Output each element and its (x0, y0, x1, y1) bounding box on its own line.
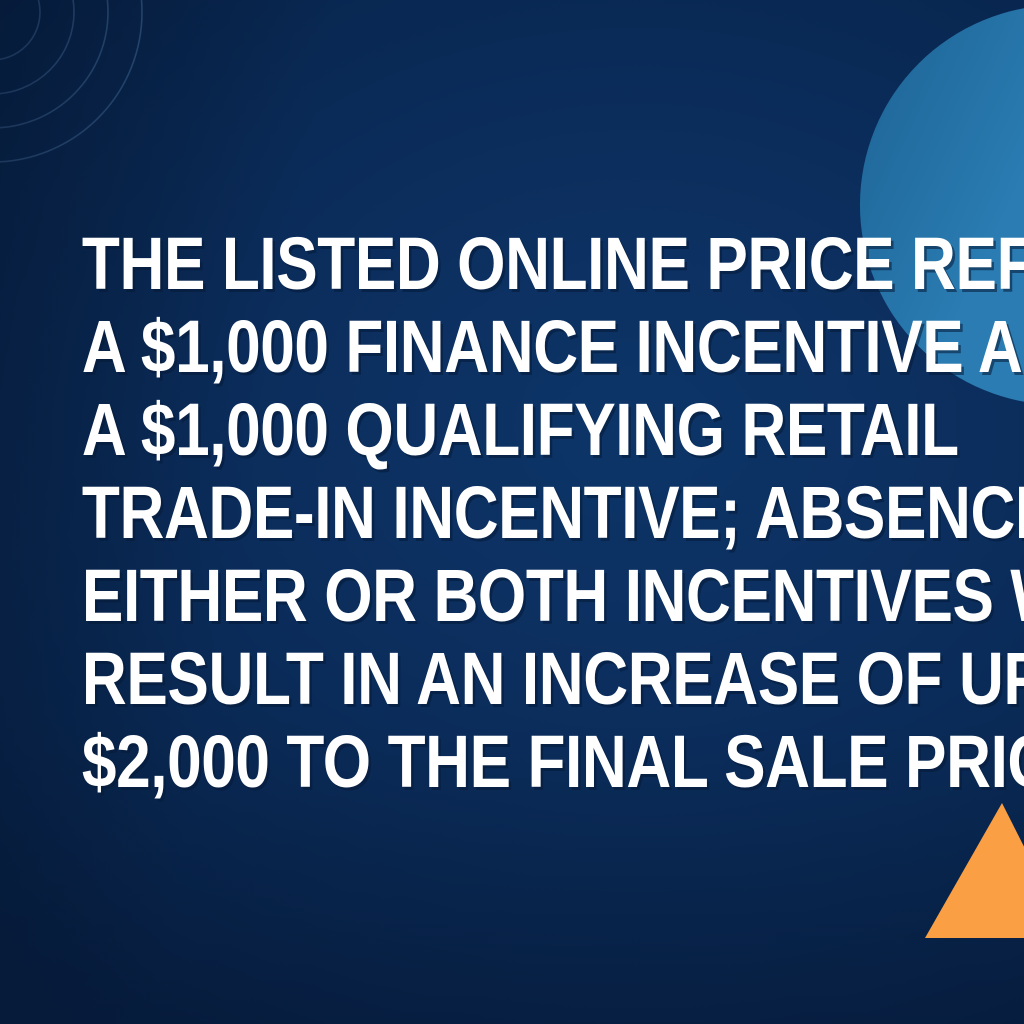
arc-ring-1 (0, 0, 40, 60)
disclaimer-headline: THE LISTED ONLINE PRICE REFLECTS A $1,00… (0, 222, 1024, 803)
accent-triangle (925, 803, 1024, 938)
headline-line-6: RESULT IN AN INCREASE OF UP TO (82, 637, 942, 720)
arc-ring-2 (0, 0, 74, 94)
headline-line-7: $2,000 TO THE FINAL SALE PRICE. (82, 720, 942, 803)
arc-ring-4 (0, 0, 142, 162)
promo-disclaimer-card: THE LISTED ONLINE PRICE REFLECTS A $1,00… (0, 0, 1024, 1024)
headline-line-1: THE LISTED ONLINE PRICE REFLECTS (82, 222, 942, 305)
headline-line-2: A $1,000 FINANCE INCENTIVE AND (82, 305, 942, 388)
headline-line-4: TRADE-IN INCENTIVE; ABSENCE OF (82, 471, 942, 554)
headline-line-3: A $1,000 QUALIFYING RETAIL (82, 388, 942, 471)
accent-triangle-decoration (900, 795, 1024, 945)
arc-ring-3 (0, 0, 108, 128)
headline-line-5: EITHER OR BOTH INCENTIVES WILL (82, 554, 942, 637)
